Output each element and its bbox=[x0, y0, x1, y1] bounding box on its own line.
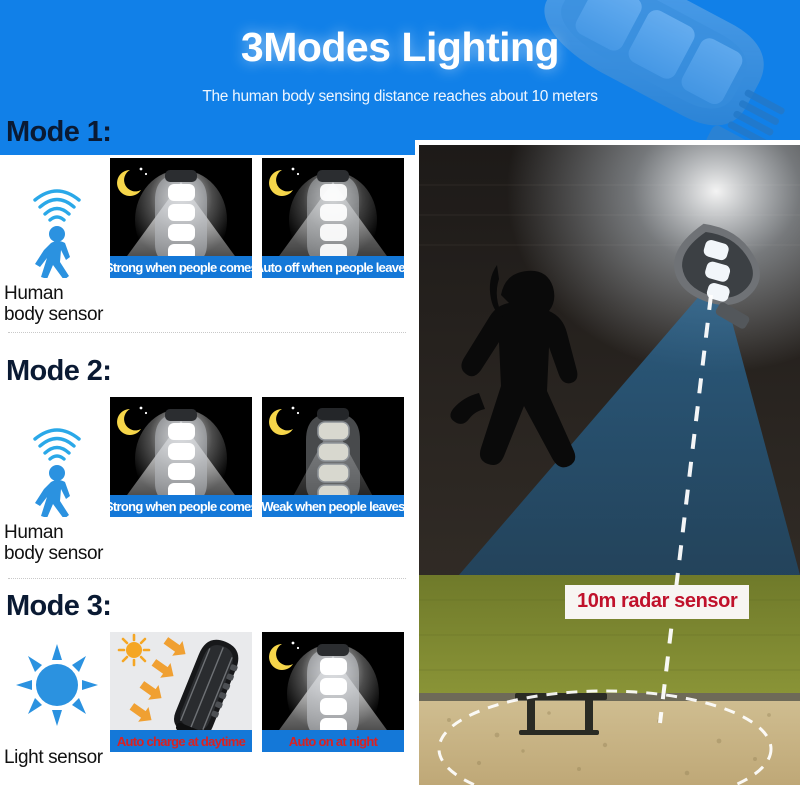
mode-3-sensor-label: Light sensor bbox=[0, 747, 108, 768]
mode-1-sensor-label: Human body sensor bbox=[0, 283, 108, 326]
page-title: 3Modes Lighting bbox=[0, 27, 800, 68]
status-badge: 10m radar sensor bbox=[565, 585, 749, 619]
mode-2-panel-1: Strong when people comes bbox=[110, 397, 252, 517]
infographic-page: 3Modes Lighting The human body sensing d… bbox=[0, 0, 800, 800]
mode-3-title: Mode 3: bbox=[6, 592, 111, 621]
mode-block-2: Mode 2: Human body sens bbox=[0, 355, 415, 580]
mode-3-panel-2: Auto on at night bbox=[262, 632, 404, 752]
mode-1-panel-2: Auto off when people leaves bbox=[262, 158, 404, 278]
light-sensor-sun-icon bbox=[9, 632, 105, 742]
mode-1-title: Mode 1: bbox=[6, 118, 111, 147]
sun-icon bbox=[119, 635, 149, 665]
mode-2-title: Mode 2: bbox=[6, 357, 111, 386]
modes-column: Mode 1: Human body sens bbox=[0, 110, 415, 800]
mode-block-3: Mode 3: Light sens bbox=[0, 592, 415, 800]
human-body-sensor-icon bbox=[9, 397, 105, 517]
page-subtitle: The human body sensing distance reaches … bbox=[0, 88, 800, 106]
mode-2-sensor: Human body sensor bbox=[0, 397, 108, 565]
mode-3-panel-1: Auto charge at daytime bbox=[110, 632, 252, 752]
mode-3-caption-2: Auto on at night bbox=[262, 730, 404, 752]
mode-1-caption-2: Auto off when people leaves bbox=[262, 256, 404, 278]
divider-2 bbox=[8, 578, 406, 579]
mode-2-caption-1: Strong when people comes bbox=[110, 495, 252, 517]
divider-1 bbox=[8, 332, 406, 333]
radar-scene-photo: 10m radar sensor bbox=[419, 145, 800, 785]
mode-2-caption-2: Weak when people leaves bbox=[262, 495, 404, 517]
mode-2-panel-2: Weak when people leaves bbox=[262, 397, 404, 517]
mode-3-caption-1: Auto charge at daytime bbox=[110, 730, 252, 752]
night-park-radar-scene bbox=[419, 145, 800, 785]
mode-3-sensor: Light sensor bbox=[0, 632, 108, 768]
mode-1-sensor: Human body sensor bbox=[0, 158, 108, 326]
human-body-sensor-icon bbox=[9, 158, 105, 278]
mode-1-caption-1: Strong when people comes bbox=[110, 256, 252, 278]
mode-block-1: Mode 1: Human body sens bbox=[0, 110, 415, 338]
street-lamp-icon bbox=[490, 0, 800, 140]
mode-2-sensor-label: Human body sensor bbox=[0, 522, 108, 565]
mode-1-panel-1: Strong when people comes bbox=[110, 158, 252, 278]
